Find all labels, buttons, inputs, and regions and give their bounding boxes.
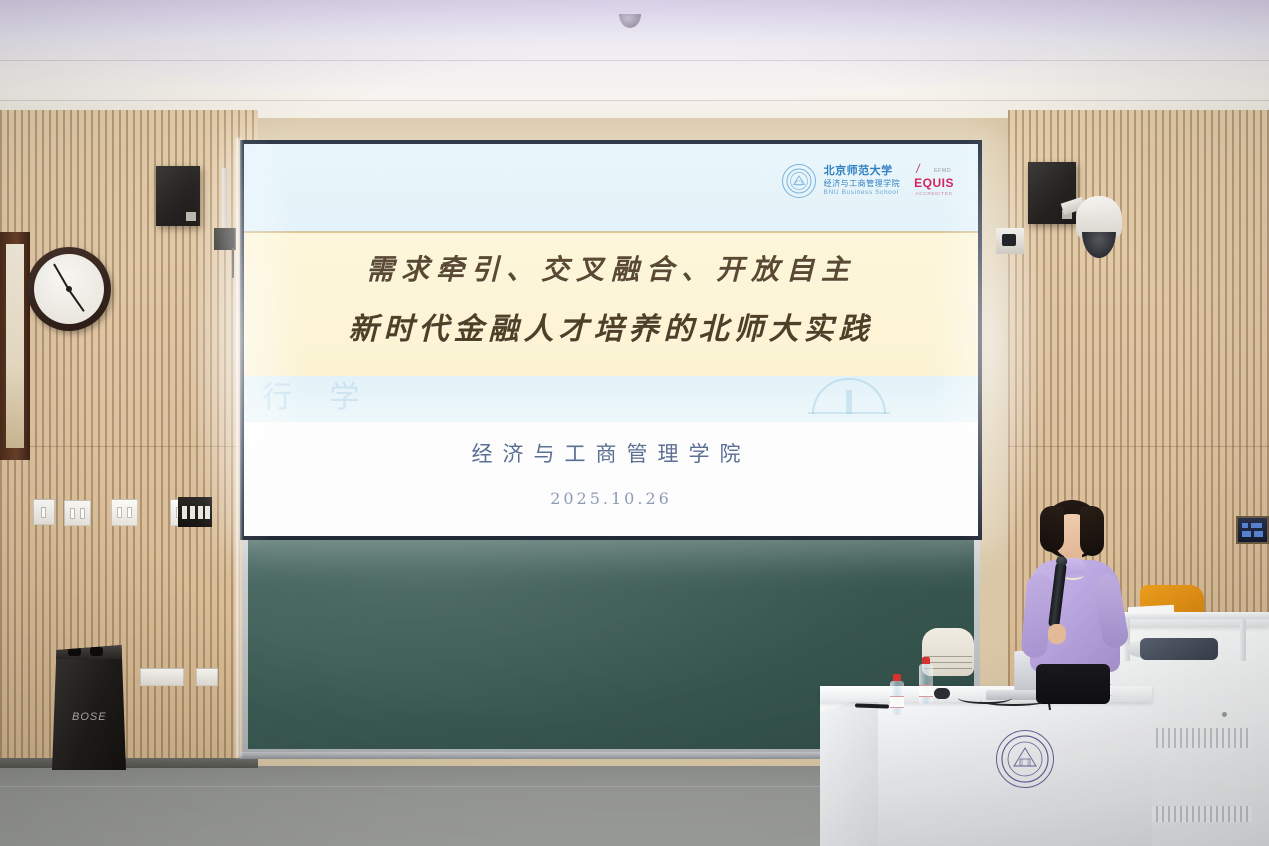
wall-speaker-right [1028, 162, 1076, 224]
floor-speaker-bose: BOSE [52, 645, 126, 770]
lecture-hall-photo: BOSE 北京师范大学 [0, 0, 1269, 846]
clock-face [34, 254, 104, 324]
university-seal-emblem [996, 730, 1054, 788]
room-control-touch-panel[interactable] [1236, 516, 1269, 544]
cabinet-lock-icon[interactable] [1222, 712, 1227, 717]
shelf-leg [1240, 619, 1246, 661]
equis-accredited-label: ACCREDITED [914, 191, 954, 196]
bnu-wordmark: 北京师范大学 经济与工商管理学院 BNU Business School [824, 165, 901, 197]
folded-cloth [1140, 638, 1218, 660]
ceiling-seam [0, 60, 1269, 61]
clock-center-pin [66, 286, 72, 292]
presenter-hair-left [1040, 506, 1064, 552]
clock-hour-hand [68, 289, 85, 311]
screen-left-post-glare [236, 138, 242, 758]
slide-watermark: 行 学 [262, 372, 374, 416]
door-glass-panel [6, 244, 24, 448]
ceiling-recess [96, 40, 1056, 100]
light-switch-panel[interactable] [64, 500, 91, 526]
slide-logo-cluster: 北京师范大学 经济与工商管理学院 BNU Business School EFM… [782, 164, 954, 198]
presenter [1014, 500, 1138, 700]
ceiling-sensor-dome-icon [619, 14, 641, 28]
presenter-hand [1048, 624, 1066, 644]
bnu-seal-icon [782, 164, 816, 198]
bnu-school-name-cn: 经济与工商管理学院 [824, 179, 901, 189]
slide-title-line1: 需求牵引、交叉融合、开放自主 [244, 248, 978, 288]
equis-accreditation-logo: EFMD EQUIS ACCREDITED [914, 166, 954, 196]
av-control-panel-dark[interactable] [178, 497, 212, 527]
slide-title-line2: 新时代金融人才培养的北师大实践 [244, 304, 978, 348]
speaker-handle-cutout [90, 647, 103, 656]
bnu-university-name-cn: 北京师范大学 [824, 165, 901, 179]
light-switch-panel[interactable] [33, 499, 55, 525]
ceiling [0, 0, 1269, 118]
wall-speaker-left [156, 166, 200, 226]
desk-side-panel [820, 694, 878, 846]
speaker-brand-label: BOSE [72, 711, 107, 723]
wall-mounted-camera-small [996, 228, 1024, 254]
ceiling-seam [0, 100, 1269, 101]
light-switch-panel[interactable] [111, 499, 138, 526]
projection-screen-bezel: 北京师范大学 经济与工商管理学院 BNU Business School EFM… [240, 140, 982, 540]
water-bottle [890, 681, 904, 715]
bnu-school-name-en: BNU Business School [824, 189, 901, 197]
wall-seam-right [1008, 446, 1269, 447]
wood-slat-wall-left [0, 110, 258, 810]
presenter-hair-right [1080, 506, 1104, 556]
slide-organization: 经济与工商管理学院 [244, 438, 978, 468]
slide-band-divider [244, 231, 978, 233]
slide-arch-base [808, 412, 890, 414]
presenter-lower-garment [1036, 664, 1110, 704]
wall-outlet-panel[interactable] [196, 668, 218, 686]
computer-mouse[interactable] [934, 688, 950, 699]
water-bottle [919, 664, 933, 704]
hanging-cable [232, 248, 234, 278]
baseboard-left [0, 758, 258, 768]
equis-label: EQUIS [914, 176, 954, 190]
efmd-label: EFMD [934, 168, 951, 175]
slide-date: 2025.10.26 [244, 489, 978, 508]
wall-seam-left [0, 446, 258, 447]
wall-mounted-device-left [214, 228, 236, 250]
wall-clock [27, 247, 111, 331]
wall-outlet-panel[interactable] [140, 668, 184, 686]
projected-slide: 北京师范大学 经济与工商管理学院 BNU Business School EFM… [244, 144, 978, 536]
